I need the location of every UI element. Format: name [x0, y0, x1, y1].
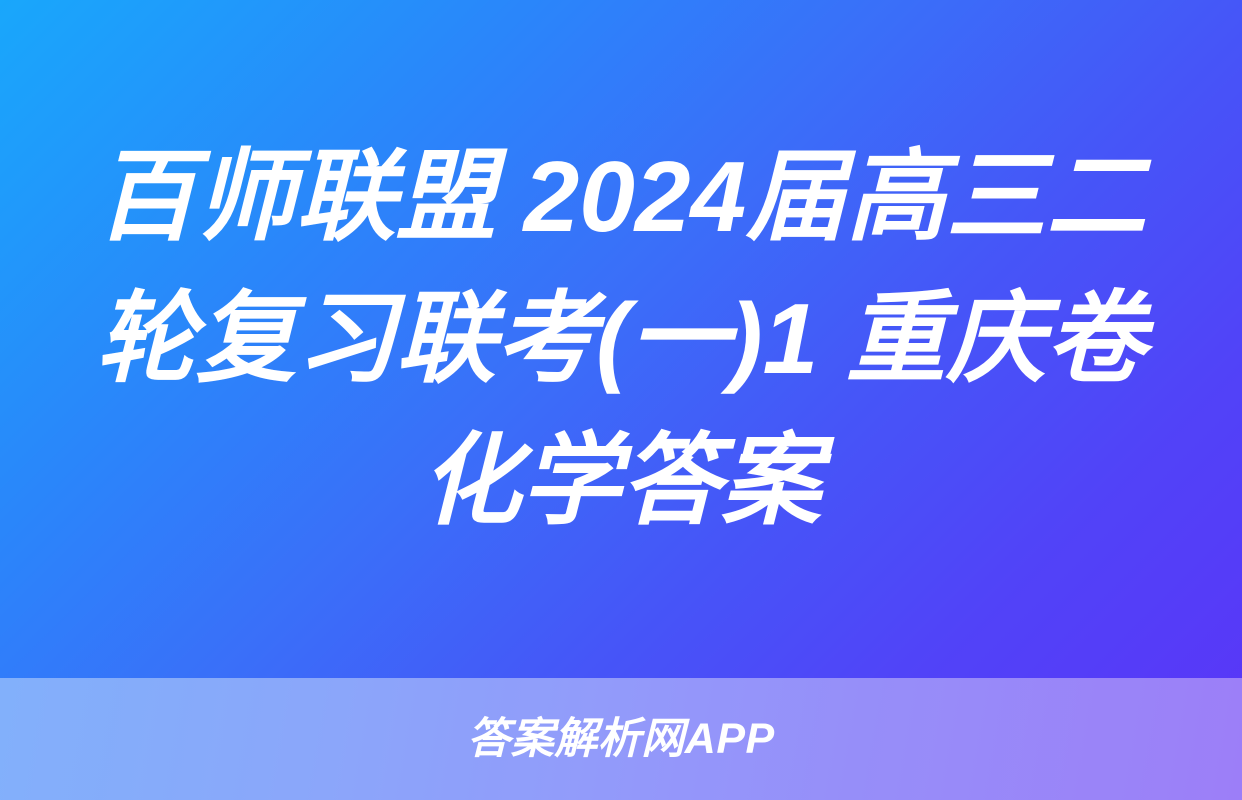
watermark-band: 答案解析网APP	[0, 678, 1242, 800]
watermark-app-label: 答案解析网APP	[467, 718, 774, 761]
poster-canvas: 百师联盟 2024届高三二轮复习联考(一)1 重庆卷 化学答案 答案解析网APP	[0, 0, 1242, 800]
page-title: 百师联盟 2024届高三二轮复习联考(一)1 重庆卷 化学答案	[79, 126, 1164, 552]
hero-title-area: 百师联盟 2024届高三二轮复习联考(一)1 重庆卷 化学答案	[0, 0, 1242, 678]
